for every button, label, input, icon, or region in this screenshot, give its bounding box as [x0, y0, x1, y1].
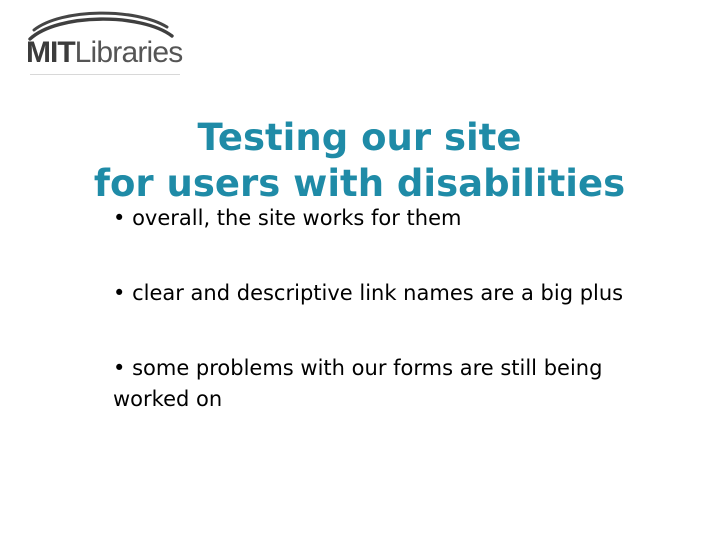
slide-title-line-1: Testing our site	[0, 115, 719, 161]
bullet-marker: •	[113, 206, 125, 230]
logo-wordmark: MITLibraries	[26, 37, 183, 69]
slide-title: Testing our site for users with disabili…	[0, 115, 719, 207]
bullet-text: some problems with our forms are still b…	[113, 356, 602, 411]
logo-mit-text: MIT	[26, 36, 75, 69]
logo-underline-divider	[30, 74, 180, 75]
presentation-slide: MITLibraries Testing our site for users …	[0, 0, 719, 539]
bullet-text: overall, the site works for them	[132, 206, 461, 230]
logo-libraries-text: Libraries	[75, 36, 183, 69]
bullet-item: • overall, the site works for them	[113, 203, 653, 234]
bullet-marker: •	[113, 281, 125, 305]
bullet-marker: •	[113, 356, 125, 380]
mit-libraries-logo: MITLibraries	[24, 8, 199, 78]
bullet-item: • clear and descriptive link names are a…	[113, 278, 653, 309]
bullet-text: clear and descriptive link names are a b…	[132, 281, 623, 305]
bullet-item: • some problems with our forms are still…	[113, 353, 653, 415]
slide-bullet-list: • overall, the site works for them • cle…	[113, 203, 653, 415]
slide-title-line-2: for users with disabilities	[0, 161, 719, 207]
